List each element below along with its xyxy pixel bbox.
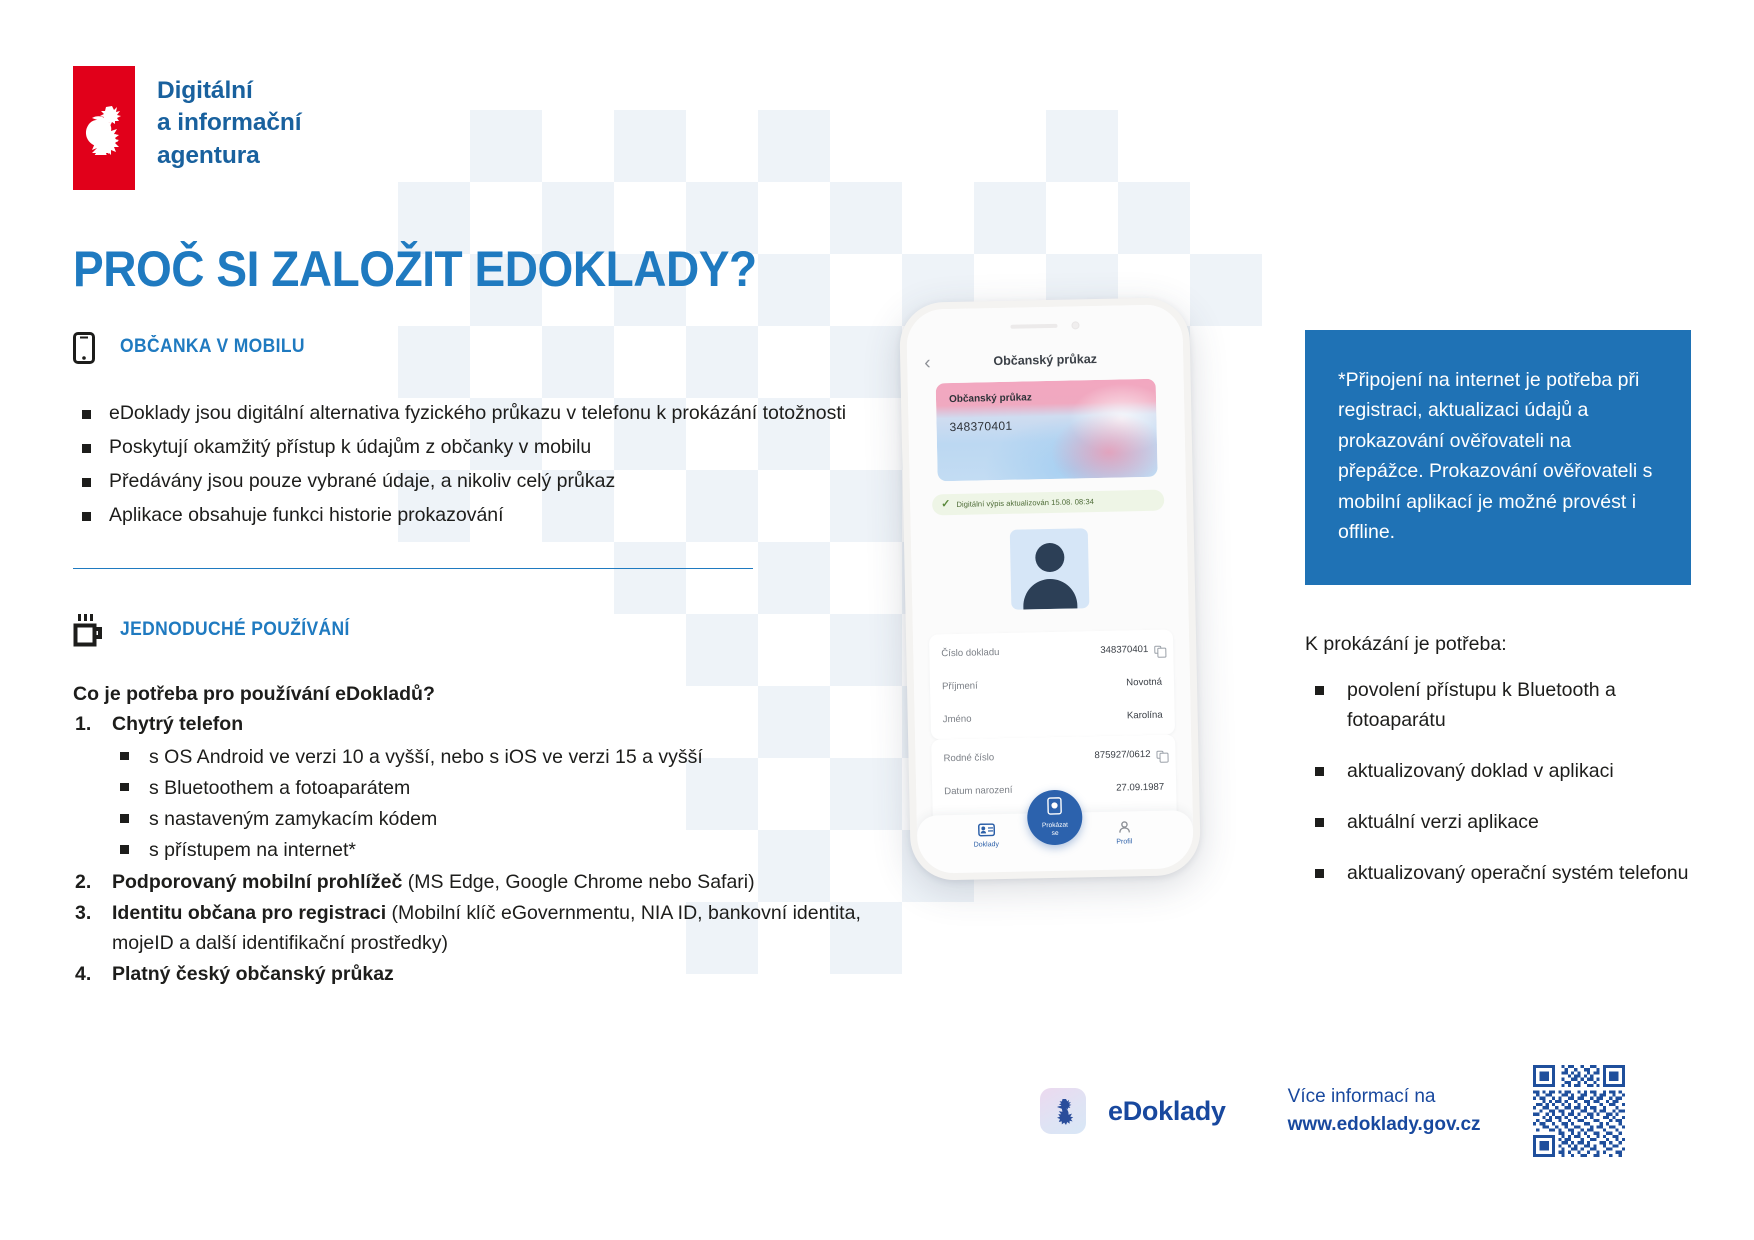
id-card-number: 348370401 <box>949 419 1012 434</box>
usage-question: Co je potřeba pro používání eDokladů? <box>73 683 863 706</box>
usage-numbered-list: 1. Chytrý telefon s OS Android ve verzi … <box>73 710 863 990</box>
list-item: eDoklady jsou digitální alternativa fyzi… <box>73 399 863 429</box>
list-item: povolení přístupu k Bluetooth a fotoapar… <box>1305 676 1695 735</box>
sub-list-1: s OS Android ve verzi 10 a vyšší, nebo s… <box>112 742 863 866</box>
internet-note-box: *Připojení na internet je potřeba při re… <box>1305 330 1691 585</box>
list-item: aktualizovaný doklad v aplikaci <box>1305 757 1695 786</box>
field-value-text: 348370401 <box>1100 644 1148 656</box>
item-bold-text: Platný český občanský průkaz <box>112 963 394 985</box>
section-usage-label: JEDNODUCHÉ POUŽÍVÁNÍ <box>120 619 350 641</box>
item-bold-text: Podporovaný mobilní prohlížeč <box>112 871 402 893</box>
sub-item: s Bluetoothem a fotoaparátem <box>112 773 863 803</box>
footer: eDoklady Více informací na www.edoklady.… <box>1040 1065 1625 1157</box>
item-bold-text: Chytrý telefon <box>112 713 243 735</box>
speaker-grille <box>1010 324 1057 329</box>
field-label: Číslo dokladu <box>941 647 999 659</box>
section-heading-mobil: OBČANKA V MOBILU <box>73 330 863 364</box>
more-info-block: Více informací na www.edoklady.gov.cz <box>1288 1083 1481 1140</box>
section-divider <box>73 568 753 569</box>
field-value: 27.09.1987 <box>1116 782 1164 794</box>
field-row: Jméno Karolína <box>930 698 1175 736</box>
sub-item: s nastaveným zamykacím kódem <box>112 804 863 834</box>
item-regular-text: (MS Edge, Google Chrome nebo Safari) <box>402 871 754 893</box>
organization-logo: Digitální a informační agentura <box>73 66 301 190</box>
list-item-3: 3. Identitu občana pro registraci (Mobil… <box>73 899 863 958</box>
item-number: 4. <box>75 960 91 990</box>
field-label: Datum narození <box>944 785 1012 797</box>
item-bold-text: Identitu občana pro registraci <box>112 902 386 924</box>
field-label: Příjmení <box>942 681 978 693</box>
logo-line-1: Digitální <box>157 75 301 107</box>
check-icon: ✓ <box>941 499 950 510</box>
app-name: eDoklady <box>1108 1096 1226 1127</box>
field-group-identity: Číslo dokladu 348370401 Příjmení Novotná… <box>929 629 1175 739</box>
list-item: Aplikace obsahuje funkci historie prokaz… <box>73 501 863 531</box>
list-item: aktualizovaný operační systém telefonu <box>1305 859 1695 888</box>
right-content-column: *Připojení na internet je potřeba při re… <box>1305 330 1695 911</box>
tab-label: Profil <box>1116 838 1132 845</box>
phone-screen: ‹ Občanský průkaz Občanský průkaz 348370… <box>906 304 1194 874</box>
list-item: aktuální verzi aplikace <box>1305 808 1695 837</box>
list-item: Poskytují okamžitý přístup k údajům z ob… <box>73 433 863 463</box>
list-item-2: 2. Podporovaný mobilní prohlížeč (MS Edg… <box>73 868 863 898</box>
list-item-1: 1. Chytrý telefon s OS Android ve verzi … <box>73 710 863 866</box>
field-value: Novotná <box>1126 677 1162 689</box>
avatar-body <box>1023 578 1078 609</box>
item-number: 3. <box>75 899 91 929</box>
section-mobil-label: OBČANKA V MOBILU <box>120 336 305 358</box>
field-value-text: 875927/0612 <box>1094 749 1150 761</box>
left-content-column: OBČANKA V MOBILU eDoklady jsou digitální… <box>73 330 863 992</box>
section-heading-usage: JEDNODUCHÉ POUŽÍVÁNÍ <box>73 613 863 647</box>
mobil-bullet-list: eDoklady jsou digitální alternativa fyzi… <box>73 399 863 531</box>
avatar-head <box>1035 543 1065 573</box>
field-row: Příjmení Novotná <box>930 665 1175 703</box>
field-row: Rodné číslo 875927/0612 <box>931 737 1176 775</box>
coffee-cup-icon <box>73 613 103 647</box>
field-value: 348370401 <box>1100 644 1161 656</box>
show-id-icon <box>1047 797 1062 820</box>
logo-line-2: a informační <box>157 107 301 139</box>
list-item: Předávány jsou pouze vybrané údaje, a ni… <box>73 467 863 497</box>
app-screen-title: Občanský průkaz <box>907 350 1183 370</box>
status-badge: ✓ Digitální výpis aktualizován 15.08. 08… <box>932 490 1164 516</box>
more-info-line-1: Více informací na <box>1288 1083 1481 1112</box>
field-value: Karolína <box>1127 710 1163 722</box>
tab-label: Doklady <box>974 841 999 849</box>
need-title: K prokázání je potřeba: <box>1305 633 1695 656</box>
field-row: Číslo dokladu 348370401 <box>929 632 1174 670</box>
item-number: 2. <box>75 868 91 898</box>
fab-label: Prokázatse <box>1042 822 1068 838</box>
status-text: Digitální výpis aktualizován 15.08. 08:3… <box>956 497 1094 509</box>
website-url[interactable]: www.edoklady.gov.cz <box>1288 1111 1481 1140</box>
need-bullet-list: povolení přístupu k Bluetooth a fotoapar… <box>1305 676 1695 888</box>
logo-line-3: agentura <box>157 140 301 172</box>
copy-icon[interactable] <box>1156 750 1163 758</box>
phone-mockup: ‹ Občanský průkaz Občanský průkaz 348370… <box>905 300 1195 878</box>
field-value: 875927/0612 <box>1094 749 1163 761</box>
avatar <box>1010 528 1090 610</box>
id-card-label: Občanský průkaz <box>949 392 1032 405</box>
field-label: Rodné číslo <box>943 752 994 764</box>
chevron-left-icon[interactable]: ‹ <box>924 353 931 372</box>
edoklady-app-icon <box>1040 1088 1086 1134</box>
item-number: 1. <box>75 710 91 740</box>
qr-code[interactable] <box>1533 1065 1625 1157</box>
phone-notch <box>906 319 1182 333</box>
id-card-preview[interactable]: Občanský průkaz 348370401 <box>936 379 1158 482</box>
page-title: PROČ SI ZALOŽIT EDOKLADY? <box>73 240 757 298</box>
field-label: Jméno <box>943 714 972 726</box>
sub-item: s přístupem na internet* <box>112 835 863 865</box>
organization-name: Digitální a informační agentura <box>157 66 301 190</box>
list-item-4: 4. Platný český občanský průkaz <box>73 960 863 990</box>
copy-icon[interactable] <box>1154 645 1161 653</box>
front-camera-icon <box>1071 321 1079 329</box>
czech-lion-icon <box>73 66 135 190</box>
app-header: ‹ Občanský průkaz <box>907 340 1184 380</box>
phone-icon <box>73 330 103 364</box>
sub-item: s OS Android ve verzi 10 a vyšší, nebo s… <box>112 742 863 772</box>
